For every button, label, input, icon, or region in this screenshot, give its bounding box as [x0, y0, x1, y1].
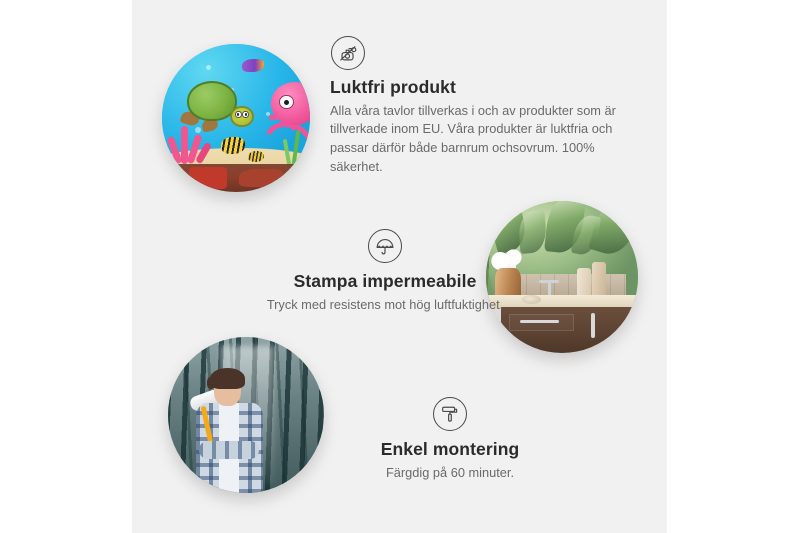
- feature-easy-mounting: Enkel montering Färgdig på 60 minuter.: [330, 397, 570, 482]
- foreground-furniture: [162, 164, 310, 192]
- feature-waterproof: Stampa impermeabile Tryck med resistens …: [220, 229, 550, 314]
- coral-plant: [168, 120, 218, 164]
- content-panel: Luktfri produkt Alla våra tavlor tillver…: [132, 0, 667, 533]
- photo-installer: [168, 337, 324, 493]
- fish-yellow: [221, 137, 245, 153]
- feature-odourless: Luktfri produkt Alla våra tavlor tillver…: [330, 36, 630, 176]
- umbrella-icon: [368, 229, 402, 263]
- feature-description: Tryck med resistens mot hög luftfuktighe…: [220, 296, 550, 315]
- person-figure: [187, 368, 277, 493]
- feature-title: Stampa impermeabile: [220, 271, 550, 293]
- no-fragrance-icon: [331, 36, 365, 70]
- feature-title: Enkel montering: [330, 439, 570, 461]
- feature-description: Alla våra tavlor tillverkas i och av pro…: [330, 102, 626, 176]
- feature-title: Luktfri produkt: [330, 77, 630, 99]
- feature-description: Färgdig på 60 minuter.: [330, 464, 570, 483]
- photo-underwater: [162, 44, 310, 192]
- paint-roller-icon: [433, 397, 467, 431]
- promo-graphic: Luktfri produkt Alla våra tavlor tillver…: [0, 0, 800, 533]
